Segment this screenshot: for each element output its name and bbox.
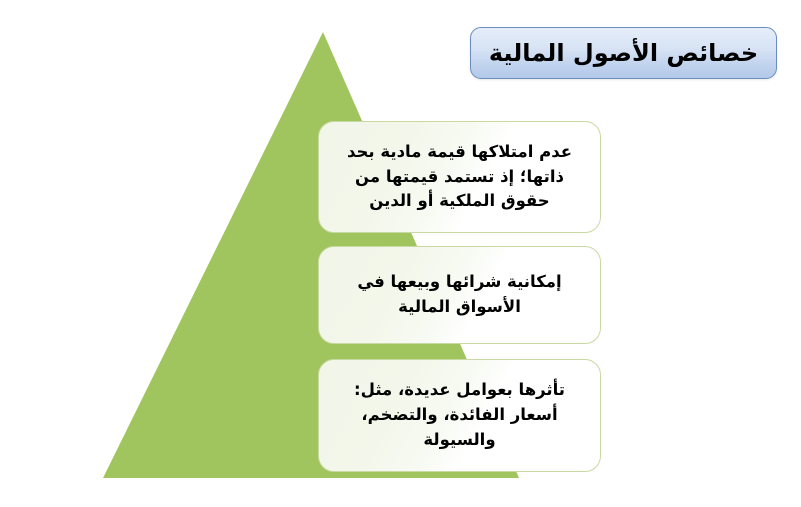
pyramid-item-3-label: تأثرها بعوامل عديدة، مثل: أسعار الفائدة،… (335, 378, 584, 452)
pyramid-item-2[interactable]: إمكانية شرائها وبيعها في الأسواق المالية (318, 246, 601, 344)
pyramid-item-1[interactable]: عدم امتلاكها قيمة مادية بحد ذاتها؛ إذ تس… (318, 121, 601, 233)
diagram-title-label: خصائص الأصول المالية (489, 40, 758, 66)
diagram-title-banner[interactable]: خصائص الأصول المالية (470, 27, 777, 79)
pyramid-item-1-label: عدم امتلاكها قيمة مادية بحد ذاتها؛ إذ تس… (335, 140, 584, 214)
pyramid-item-3[interactable]: تأثرها بعوامل عديدة، مثل: أسعار الفائدة،… (318, 359, 601, 472)
diagram-canvas: خصائص الأصول المالية عدم امتلاكها قيمة م… (0, 0, 801, 507)
pyramid-item-2-label: إمكانية شرائها وبيعها في الأسواق المالية (335, 270, 584, 320)
